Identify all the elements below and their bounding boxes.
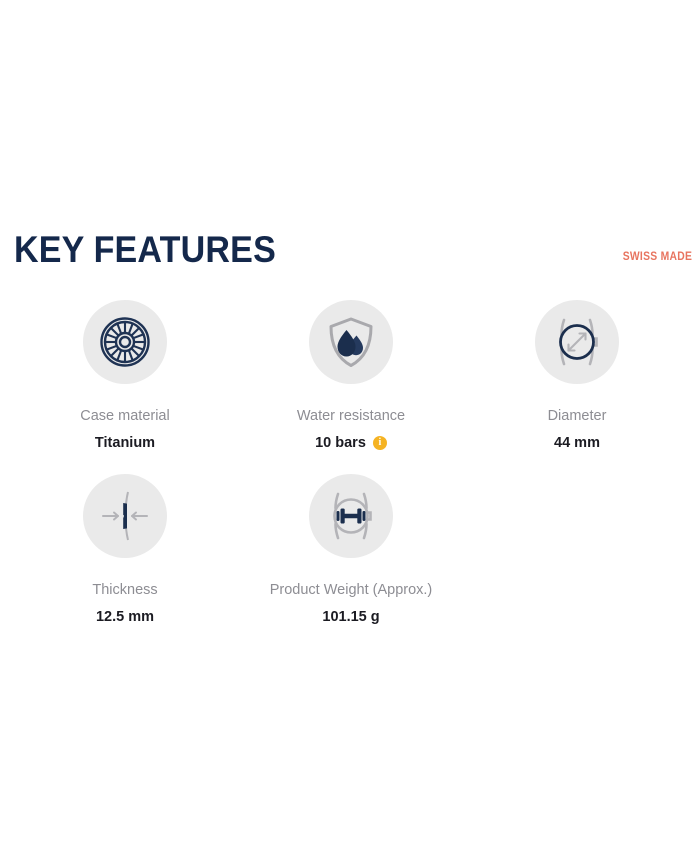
wheel-icon [83,300,167,384]
feature-label: Water resistance [297,407,405,425]
feature-value-row: Titanium [95,434,155,452]
feature-value: 12.5 mm [96,608,154,626]
page-title: KEY FEATURES [14,230,276,270]
shield-water-drop-icon [309,300,393,384]
feature-item-water-resistance: Water resistance 10 bars i [238,300,464,452]
feature-value: 101.15 g [322,608,379,626]
feature-label: Case material [80,407,169,425]
feature-value-row: 101.15 g [322,608,379,626]
feature-item-case-material: Case material Titanium [12,300,238,452]
feature-value: 44 mm [554,434,600,452]
info-icon-glyph: i [379,438,382,448]
feature-value: 10 bars [315,434,366,452]
watch-weight-dumbbell-icon [309,474,393,558]
feature-label: Diameter [548,407,607,425]
feature-item-diameter: Diameter 44 mm [464,300,690,452]
feature-value-row: 10 bars i [315,434,387,452]
feature-value-row: 12.5 mm [96,608,154,626]
feature-item-thickness: Thickness 12.5 mm [12,474,238,626]
feature-label: Thickness [92,581,157,599]
info-icon[interactable]: i [373,436,387,450]
feature-label: Product Weight (Approx.) [270,581,433,599]
section-header: KEY FEATURES SWISS MADE [0,230,700,280]
feature-value: Titanium [95,434,155,452]
feature-item-product-weight: Product Weight (Approx.) 101.15 g [238,474,464,626]
key-features-panel: KEY FEATURES SWISS MADE [0,0,700,850]
swiss-made-badge: SWISS MADE [623,251,692,264]
feature-value-row: 44 mm [554,434,600,452]
watch-diameter-icon [535,300,619,384]
features-grid: Case material Titanium Water resistance … [12,300,700,648]
watch-thickness-icon [83,474,167,558]
